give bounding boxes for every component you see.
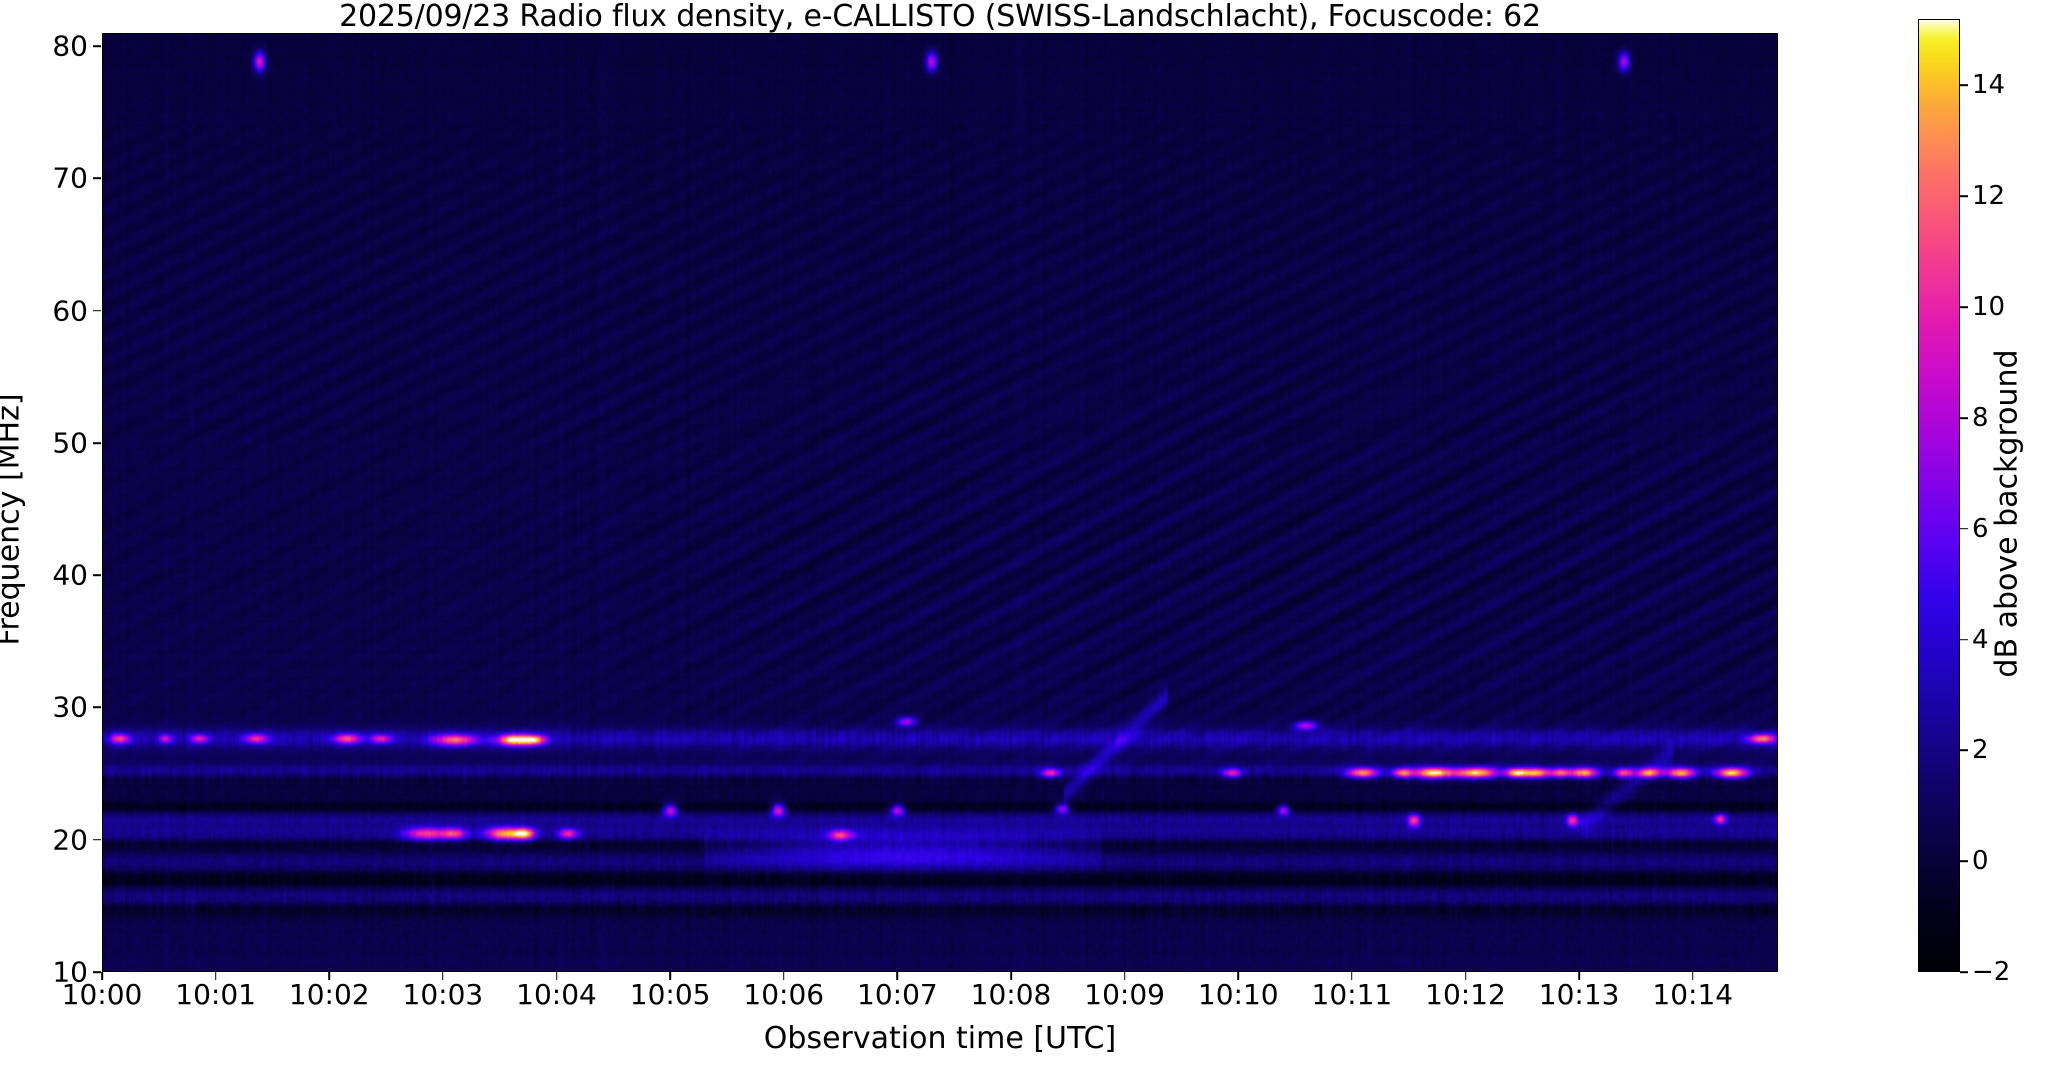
spectrogram-plot-area[interactable] <box>102 33 1778 972</box>
colorbar-tick-mark-4 <box>1960 639 1968 641</box>
colorbar-tick-label-2: 2 <box>1972 735 1989 765</box>
x-tick-label-10-04: 10:04 <box>516 978 597 1011</box>
colorbar-tick-label-14: 14 <box>1972 70 2005 100</box>
x-tick-mark-10-04 <box>556 972 558 980</box>
x-tick-label-10-13: 10:13 <box>1539 978 1620 1011</box>
y-tick-label-80: 80 <box>52 30 88 63</box>
y-tick-label-70: 70 <box>52 162 88 195</box>
y-tick-mark-20 <box>93 839 101 841</box>
colorbar-tick-mark-12 <box>1960 196 1968 198</box>
x-tick-label-10-00: 10:00 <box>62 978 143 1011</box>
colorbar-tick-mark-10 <box>1960 306 1968 308</box>
x-tick-mark-10-12 <box>1465 972 1467 980</box>
y-tick-label-20: 20 <box>52 823 88 856</box>
colorbar-tick-mark-8 <box>1960 417 1968 419</box>
x-tick-mark-10-01 <box>215 972 217 980</box>
x-tick-label-10-14: 10:14 <box>1652 978 1733 1011</box>
x-tick-mark-10-08 <box>1010 972 1012 980</box>
x-tick-label-10-01: 10:01 <box>175 978 256 1011</box>
x-tick-label-10-07: 10:07 <box>857 978 938 1011</box>
y-tick-mark-80 <box>93 45 101 47</box>
x-tick-mark-10-11 <box>1351 972 1353 980</box>
y-tick-mark-10 <box>93 971 101 973</box>
x-tick-label-10-03: 10:03 <box>403 978 484 1011</box>
x-tick-mark-10-14 <box>1692 972 1694 980</box>
x-tick-mark-10-09 <box>1124 972 1126 980</box>
spectrogram-heatmap[interactable] <box>103 34 1777 971</box>
y-axis-label: Frequency [MHz] <box>0 170 27 870</box>
y-tick-label-50: 50 <box>52 426 88 459</box>
x-tick-mark-10-10 <box>1237 972 1239 980</box>
y-tick-label-40: 40 <box>52 559 88 592</box>
colorbar-label: dB above background <box>1990 204 2025 824</box>
y-tick-mark-50 <box>93 442 101 444</box>
colorbar-tick-label-0: 0 <box>1972 846 1989 876</box>
x-tick-label-10-12: 10:12 <box>1425 978 1506 1011</box>
colorbar-gradient <box>1919 20 1959 971</box>
y-tick-mark-60 <box>93 310 101 312</box>
page-title: 2025/09/23 Radio flux density, e-CALLIST… <box>102 2 1778 32</box>
y-tick-label-60: 60 <box>52 294 88 327</box>
colorbar-tick-label--2: −2 <box>1972 957 2010 987</box>
colorbar-tick-label-4: 4 <box>1972 625 1989 655</box>
y-tick-label-30: 30 <box>52 691 88 724</box>
colorbar-tick-mark--2 <box>1960 971 1968 973</box>
x-tick-mark-10-02 <box>328 972 330 980</box>
x-tick-label-10-08: 10:08 <box>971 978 1052 1011</box>
colorbar-tick-mark-6 <box>1960 528 1968 530</box>
x-tick-label-10-10: 10:10 <box>1198 978 1279 1011</box>
colorbar-tick-label-6: 6 <box>1972 514 1989 544</box>
x-tick-label-10-06: 10:06 <box>743 978 824 1011</box>
y-tick-mark-30 <box>93 707 101 709</box>
y-tick-mark-40 <box>93 574 101 576</box>
x-tick-label-10-09: 10:09 <box>1084 978 1165 1011</box>
x-tick-mark-10-06 <box>783 972 785 980</box>
x-tick-mark-10-03 <box>442 972 444 980</box>
x-tick-mark-10-05 <box>669 972 671 980</box>
colorbar-tick-mark-0 <box>1960 860 1968 862</box>
colorbar-tick-label-8: 8 <box>1972 403 1989 433</box>
figure-canvas: 2025/09/23 Radio flux density, e-CALLIST… <box>0 0 2047 1067</box>
x-tick-mark-10-13 <box>1578 972 1580 980</box>
x-tick-mark-10-00 <box>101 972 103 980</box>
x-axis-label: Observation time [UTC] <box>102 1021 1778 1056</box>
x-tick-label-10-02: 10:02 <box>289 978 370 1011</box>
x-tick-label-10-05: 10:05 <box>630 978 711 1011</box>
colorbar-tick-mark-2 <box>1960 750 1968 752</box>
y-tick-mark-70 <box>93 178 101 180</box>
colorbar[interactable] <box>1918 19 1960 972</box>
x-tick-mark-10-07 <box>897 972 899 980</box>
x-tick-label-10-11: 10:11 <box>1312 978 1393 1011</box>
colorbar-tick-mark-14 <box>1960 85 1968 87</box>
